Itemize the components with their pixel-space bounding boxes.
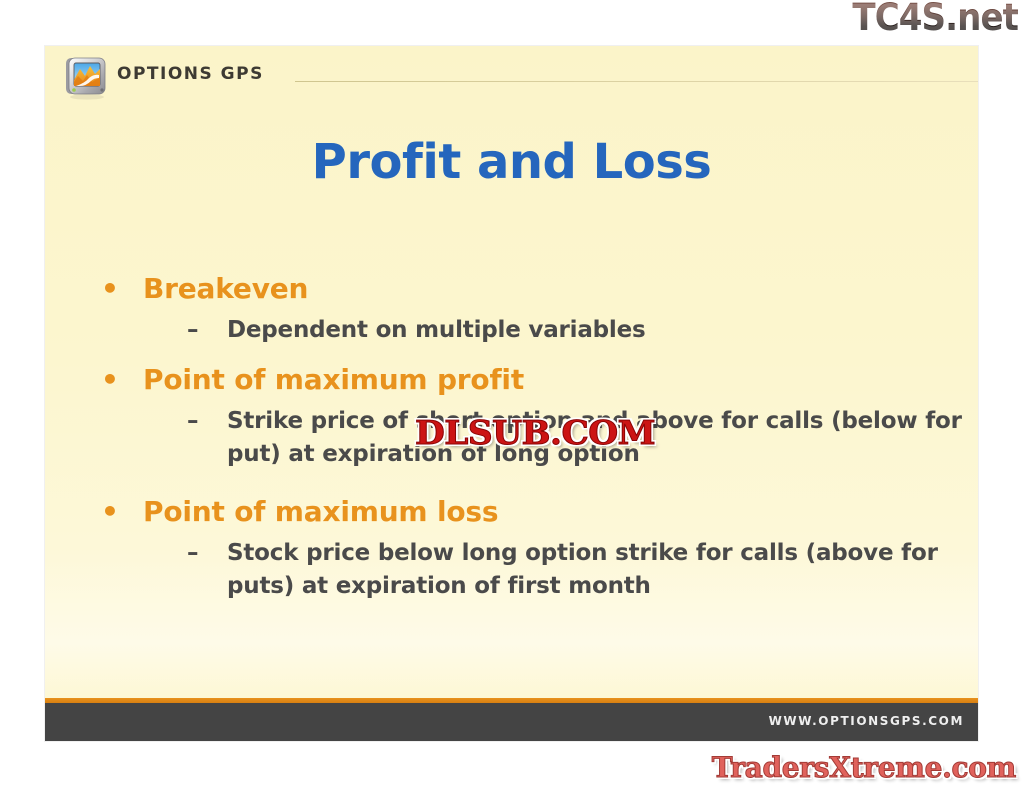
dash-marker-icon: – — [187, 405, 205, 438]
dash-marker-icon: – — [187, 314, 205, 347]
brand-name: Options GPS — [117, 64, 264, 84]
slide-title: Profit and Loss — [45, 134, 978, 190]
gps-device-icon — [61, 54, 109, 100]
dash-marker-icon: – — [187, 537, 205, 570]
bullet-level2-text: Stock price below long option strike for… — [227, 540, 938, 599]
header-divider — [295, 81, 978, 82]
footer-url: www.OptionsGPS.com — [769, 714, 964, 728]
bullet-marker-icon: • — [101, 268, 115, 310]
bullet-level1: • Point of maximum profit — [45, 359, 978, 401]
tradersxtreme-watermark: TradersXtreme.com — [712, 751, 1016, 785]
bullet-marker-icon: • — [101, 491, 115, 533]
spacer — [45, 473, 978, 491]
brand-name-text: Options GPS — [117, 64, 264, 84]
bullet-level1: • Breakeven — [45, 268, 978, 310]
bullet-level1-text: Point of maximum profit — [143, 363, 524, 396]
tc4s-site-logo: TC4S.net — [852, 0, 1018, 38]
bullet-level2-text: Dependent on multiple variables — [227, 317, 646, 343]
dlsub-watermark: DLSUB.COM — [415, 414, 655, 452]
bullet-level1-text: Point of maximum loss — [143, 495, 498, 528]
slide-header: Options GPS — [45, 46, 978, 108]
slide-footer: www.OptionsGPS.com — [45, 703, 978, 741]
bullet-level2: – Dependent on multiple variables — [45, 314, 978, 347]
bullet-level1: • Point of maximum loss — [45, 491, 978, 533]
bullet-level1-text: Breakeven — [143, 272, 308, 305]
bullet-level2: – Stock price below long option strike f… — [45, 537, 978, 603]
spacer — [45, 349, 978, 359]
presentation-slide: Options GPS Profit and Loss • Breakeven … — [45, 46, 978, 741]
bullet-marker-icon: • — [101, 359, 115, 401]
